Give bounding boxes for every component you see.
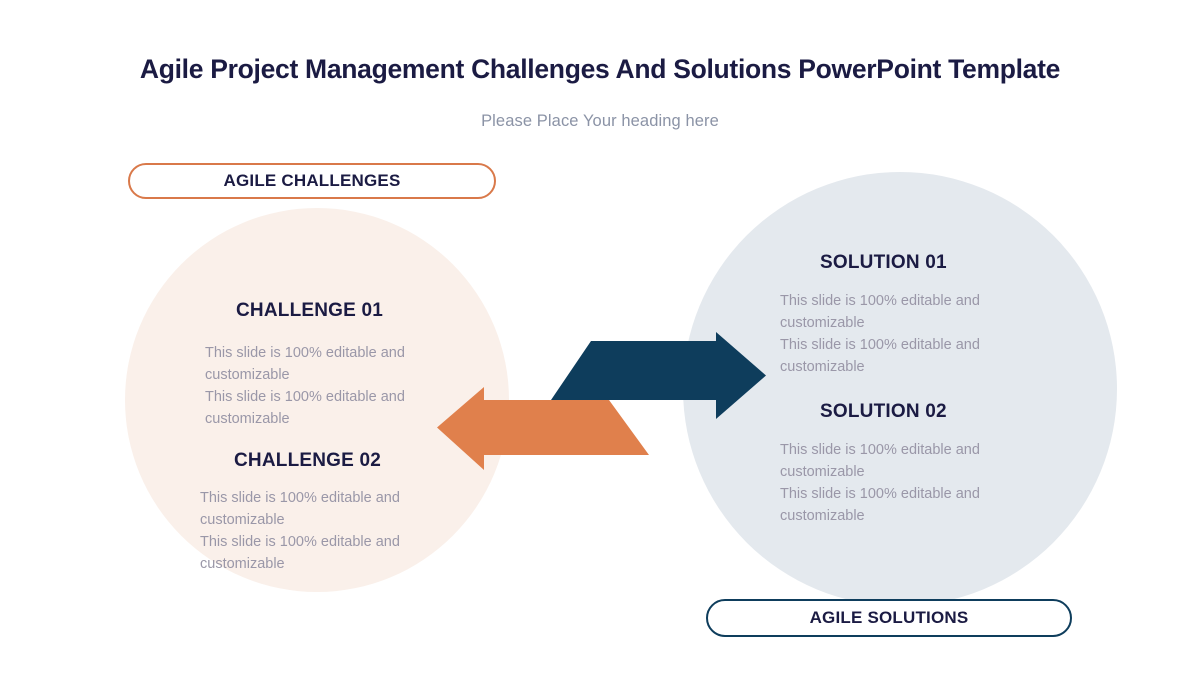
solution-02-line-2: customizable <box>780 461 1010 483</box>
challenge-01-heading: CHALLENGE 01 <box>236 300 383 322</box>
challenge-02-line-1: This slide is 100% editable and <box>200 487 435 509</box>
solution-01-line-4: customizable <box>780 356 1010 378</box>
solution-01-line-3: This slide is 100% editable and <box>780 334 1010 356</box>
badge-agile-challenges-label: AGILE CHALLENGES <box>224 171 401 191</box>
challenge-01-body: This slide is 100% editable and customiz… <box>205 342 440 430</box>
challenge-01-line-4: customizable <box>205 408 440 430</box>
slide-canvas: Agile Project Management Challenges And … <box>0 0 1200 675</box>
solution-02-body: This slide is 100% editable and customiz… <box>780 439 1010 527</box>
challenge-02-line-3: This slide is 100% editable and <box>200 531 435 553</box>
page-title: Agile Project Management Challenges And … <box>0 54 1200 85</box>
challenge-02-line-4: customizable <box>200 553 435 575</box>
solution-01-line-1: This slide is 100% editable and <box>780 290 1010 312</box>
solution-01-body: This slide is 100% editable and customiz… <box>780 290 1010 378</box>
badge-agile-solutions-label: AGILE SOLUTIONS <box>810 608 969 628</box>
page-subtitle: Please Place Your heading here <box>0 112 1200 131</box>
challenge-01-line-3: This slide is 100% editable and <box>205 386 440 408</box>
solution-02-line-4: customizable <box>780 505 1010 527</box>
badge-agile-challenges[interactable]: AGILE CHALLENGES <box>128 163 496 199</box>
badge-agile-solutions[interactable]: AGILE SOLUTIONS <box>706 599 1072 637</box>
solution-02-heading: SOLUTION 02 <box>820 401 947 423</box>
solution-02-line-1: This slide is 100% editable and <box>780 439 1010 461</box>
challenge-01-line-1: This slide is 100% editable and <box>205 342 440 364</box>
challenge-01-line-2: customizable <box>205 364 440 386</box>
challenge-02-heading: CHALLENGE 02 <box>234 450 381 472</box>
solution-01-heading: SOLUTION 01 <box>820 252 947 274</box>
challenge-02-body: This slide is 100% editable and customiz… <box>200 487 435 575</box>
solution-02-line-3: This slide is 100% editable and <box>780 483 1010 505</box>
challenge-02-line-2: customizable <box>200 509 435 531</box>
solution-01-line-2: customizable <box>780 312 1010 334</box>
